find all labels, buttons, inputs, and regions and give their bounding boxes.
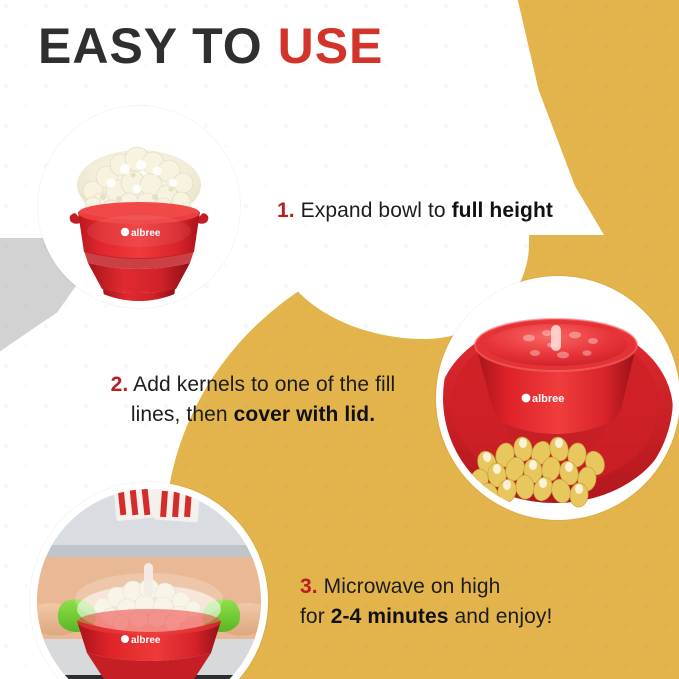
step-3-line2-lead: for bbox=[300, 605, 331, 628]
step-1-instruction: 1. Expand bowl to full height bbox=[277, 196, 637, 226]
step-3-number: 3. bbox=[300, 575, 318, 598]
svg-text:albree: albree bbox=[131, 635, 161, 646]
step-1-text-plain: Expand bowl to bbox=[301, 199, 452, 222]
step-2-line-1: 2. Add kernels to one of the fill bbox=[58, 370, 448, 400]
step-2-line2-bold: cover with lid. bbox=[234, 403, 376, 426]
step-2-line1-plain: Add kernels to one of the fill bbox=[133, 373, 395, 396]
microwave-scene-illustration: albree bbox=[37, 489, 261, 679]
step-1-product-image: albree bbox=[45, 113, 233, 301]
infographic-canvas: EASY TO USE bbox=[0, 0, 679, 679]
svg-text:albree: albree bbox=[532, 393, 564, 405]
step-2-instruction: 2. Add kernels to one of the fill lines,… bbox=[58, 370, 448, 430]
page-title-accent: USE bbox=[278, 18, 384, 74]
step-3-line-1: 3. Microwave on high bbox=[300, 572, 660, 602]
step-3-line2-tail: and enjoy! bbox=[449, 605, 553, 628]
step-1-text-bold: full height bbox=[452, 199, 553, 222]
page-title-lead: EASY TO bbox=[38, 18, 263, 74]
popcorn-packets bbox=[113, 489, 200, 522]
step-1-number: 1. bbox=[277, 199, 295, 222]
step-3-line-2: for 2-4 minutes and enjoy! bbox=[300, 602, 660, 632]
lid-handle-step3 bbox=[144, 563, 153, 597]
step-2-line2-plain: lines, then bbox=[131, 403, 234, 426]
step-2-product-image: albree bbox=[443, 283, 673, 513]
expanded-bowl-illustration: albree bbox=[45, 113, 233, 301]
step-3-line2-bold: 2-4 minutes bbox=[331, 605, 449, 628]
step-2-line-2: lines, then cover with lid. bbox=[58, 400, 448, 430]
step-3-product-image: albree bbox=[37, 489, 261, 679]
step-3-instruction: 3. Microwave on high for 2-4 minutes and… bbox=[300, 572, 660, 632]
page-title: EASY TO USE bbox=[38, 21, 383, 71]
bowl-with-lid-and-kernels-illustration: albree bbox=[443, 283, 673, 513]
step-2-number: 2. bbox=[111, 373, 129, 396]
lid-handle bbox=[551, 325, 561, 351]
step-3-line1-plain: Microwave on high bbox=[324, 575, 501, 598]
